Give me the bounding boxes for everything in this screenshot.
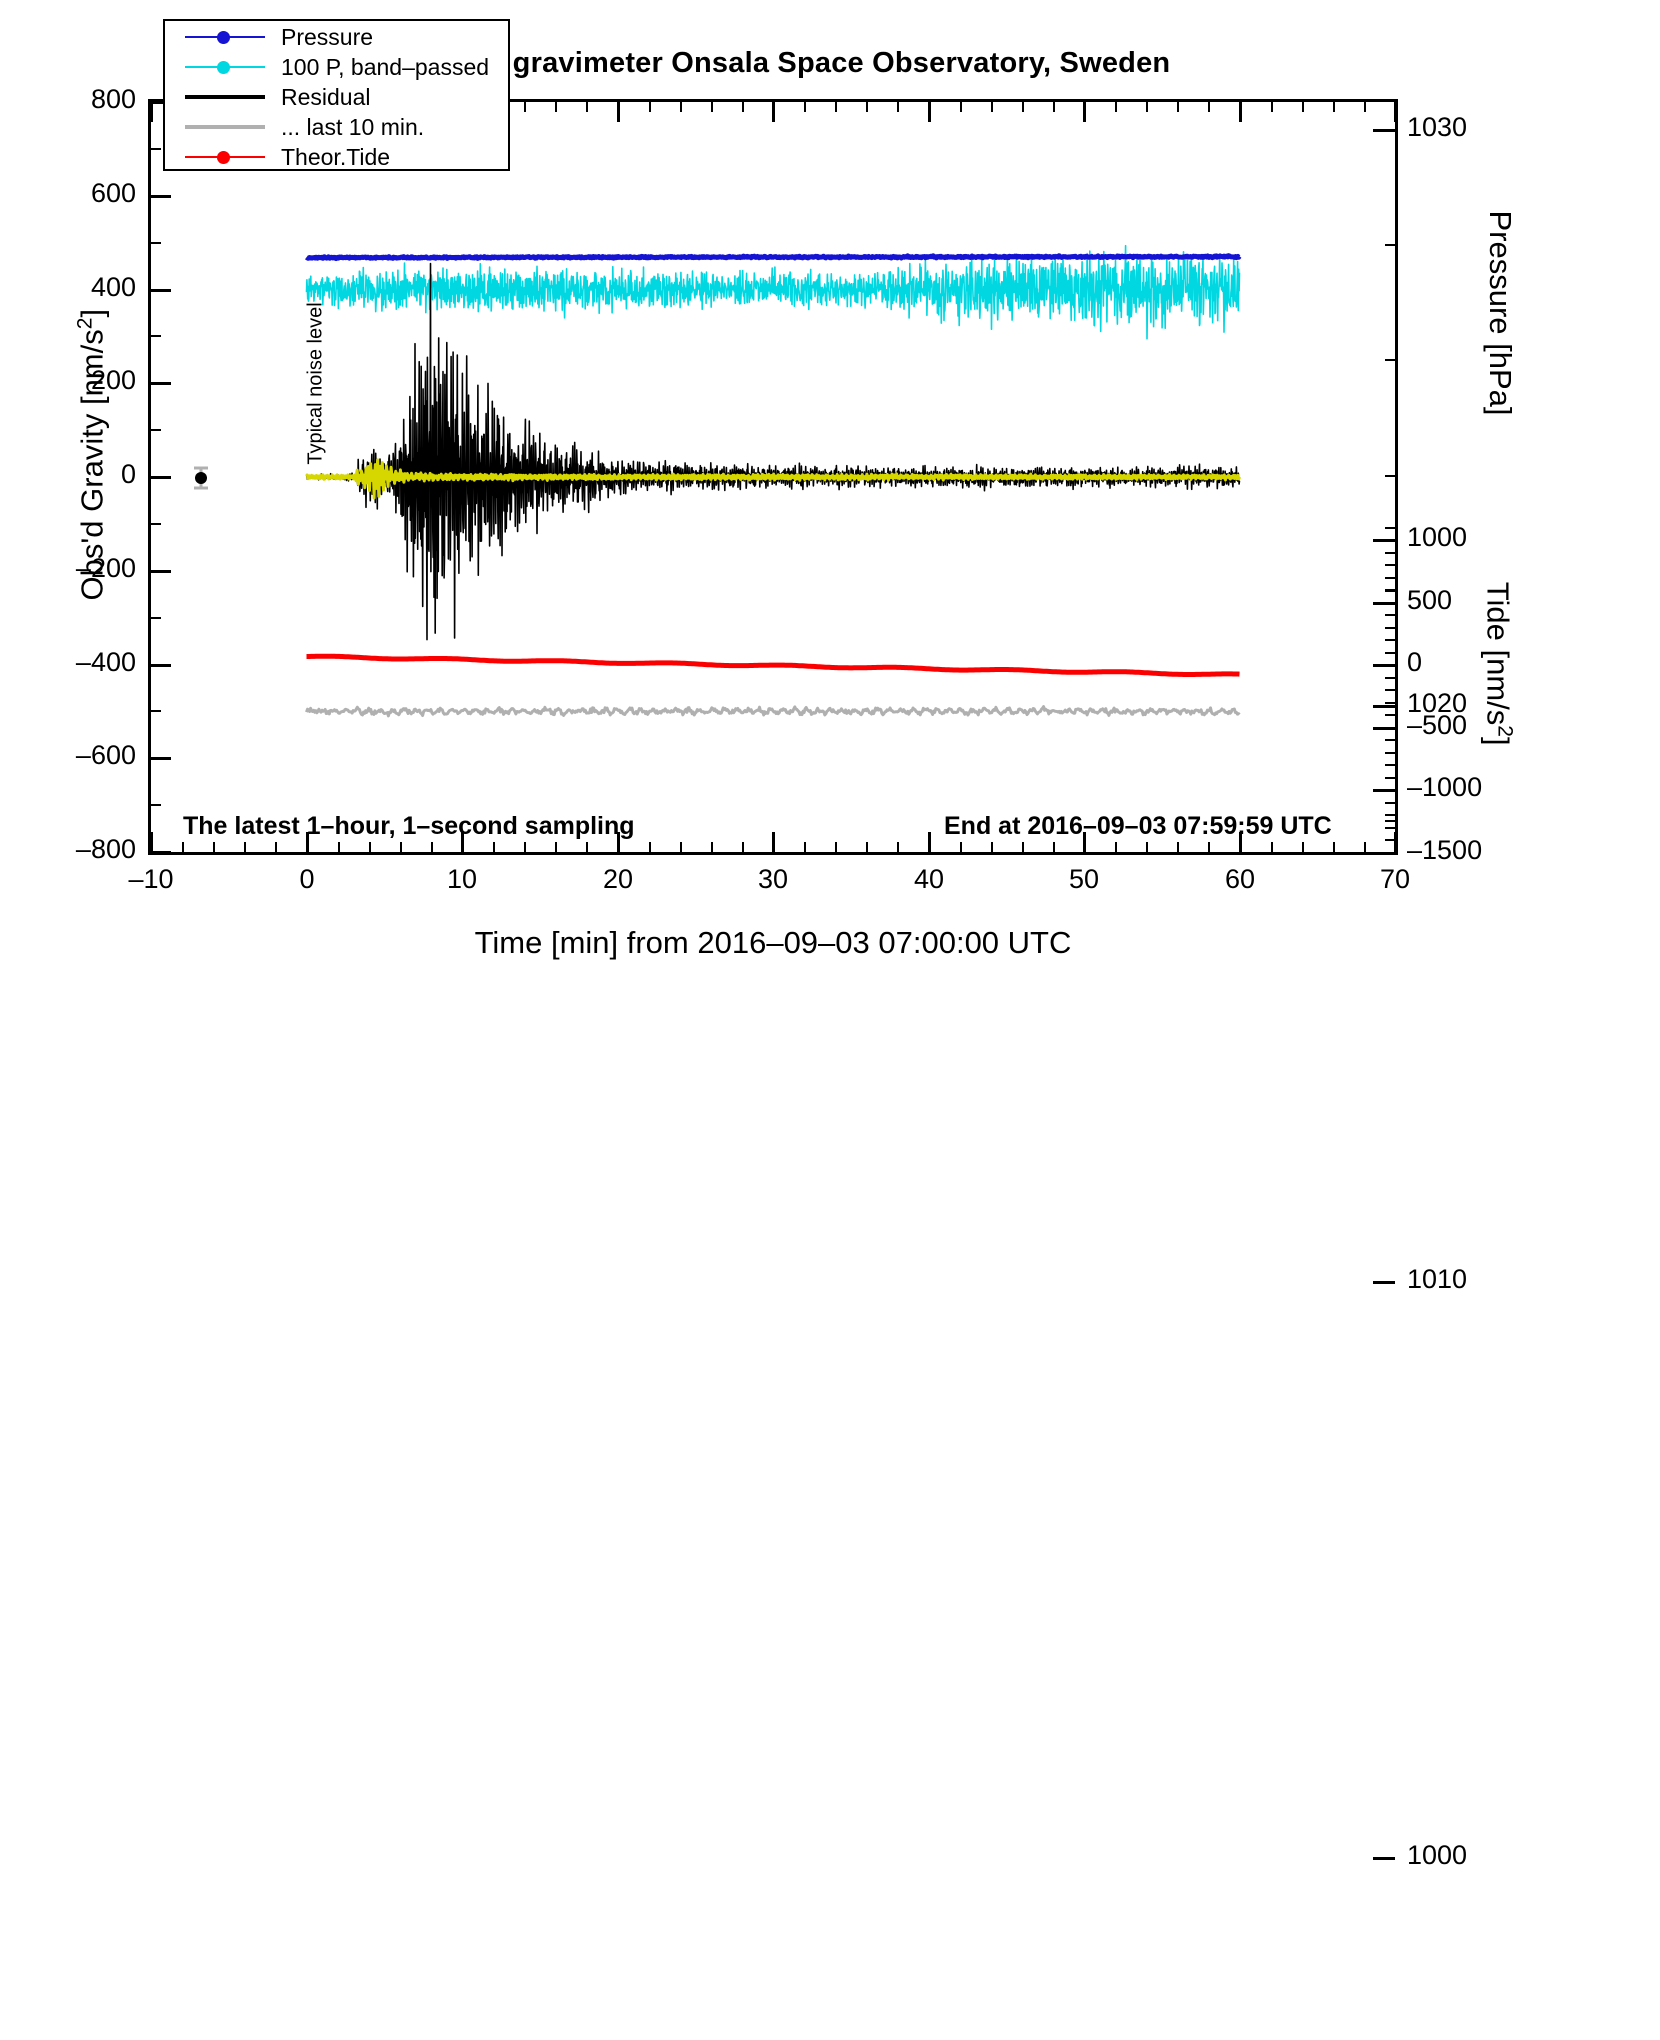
legend-marker-icon — [217, 151, 230, 164]
y-tide-major-tick — [1373, 727, 1395, 730]
x-minor-tick — [680, 842, 682, 852]
x-minor-tick — [1302, 842, 1304, 852]
y-left-major-tick — [151, 195, 171, 198]
trace-residual — [307, 264, 1240, 640]
y-left-minor-tick — [151, 617, 161, 619]
x-major-tick-top — [617, 102, 620, 122]
legend-swatch-2 — [179, 83, 271, 111]
x-minor-tick-top — [680, 102, 682, 112]
legend-line-icon — [185, 95, 265, 99]
x-major-tick-top — [1239, 102, 1242, 122]
x-minor-tick — [866, 842, 868, 852]
x-minor-tick — [991, 842, 993, 852]
x-minor-tick — [897, 842, 899, 852]
x-tick-label-5: 40 — [869, 864, 989, 895]
x-minor-tick — [1022, 842, 1024, 852]
x-minor-tick — [182, 842, 184, 852]
y-tide-minor-tick — [1385, 627, 1395, 629]
y-pressure-major-tick — [1373, 1857, 1395, 1860]
x-minor-tick-top — [1364, 102, 1366, 112]
annotation-end-time: End at 2016–09–03 07:59:59 UTC — [944, 812, 1332, 841]
y-tide-minor-tick — [1385, 714, 1395, 716]
x-minor-tick — [1333, 842, 1335, 852]
legend-label-2: Residual — [281, 86, 371, 109]
legend-label-0: Pressure — [281, 26, 373, 49]
x-minor-tick-top — [1208, 102, 1210, 112]
x-minor-tick-top — [960, 102, 962, 112]
x-minor-tick-top — [711, 102, 713, 112]
x-tick-label-0: –10 — [91, 864, 211, 895]
x-minor-tick — [1271, 842, 1273, 852]
y-tide-minor-tick — [1385, 839, 1395, 841]
x-minor-tick — [1115, 842, 1117, 852]
y-left-tick-label-8: 800 — [1, 84, 136, 115]
x-minor-tick-top — [866, 102, 868, 112]
trace-theoretical-tide — [307, 656, 1240, 674]
x-major-tick — [1394, 832, 1397, 852]
legend-label-1: 100 P, band–passed — [281, 56, 489, 79]
y-tide-minor-tick — [1385, 577, 1395, 579]
y-tide-tick-label-5: 1000 — [1407, 522, 1557, 553]
gravimeter-plot-page: SCG_054 gravimeter Onsala Space Observat… — [0, 0, 1660, 1020]
x-minor-tick-top — [804, 102, 806, 112]
x-major-tick-top — [1394, 102, 1397, 122]
y-tide-tick-label-3: 0 — [1407, 647, 1557, 678]
y-tide-minor-tick — [1385, 689, 1395, 691]
legend-item-3[interactable]: ... last 10 min. — [165, 113, 508, 141]
y-left-tick-label-2: –400 — [1, 647, 136, 678]
y-axis-pressure-title: Pressure [hPa] — [1482, 113, 1518, 513]
y-left-tick-label-0: –800 — [1, 834, 136, 865]
y-left-tick-label-4: 0 — [1, 459, 136, 490]
x-major-tick — [928, 832, 931, 852]
y-left-major-tick — [151, 476, 171, 479]
y-tide-major-tick — [1373, 789, 1395, 792]
x-minor-tick-top — [1053, 102, 1055, 112]
x-minor-tick-top — [897, 102, 899, 112]
trace-canvas — [151, 102, 1395, 852]
annotation-sampling: The latest 1–hour, 1–second sampling — [183, 812, 635, 841]
x-minor-tick-top — [555, 102, 557, 112]
y-tide-minor-tick — [1385, 677, 1395, 679]
y-left-major-tick — [151, 382, 171, 385]
y-tide-minor-tick — [1385, 802, 1395, 804]
y-pressure-tick-label-2: 1000 — [1407, 1840, 1537, 1871]
legend-item-2[interactable]: Residual — [165, 83, 508, 111]
x-minor-tick — [586, 842, 588, 852]
y-axis-left-title-tail: ] — [75, 309, 110, 318]
legend-marker-icon — [217, 61, 230, 74]
legend-line-icon — [185, 125, 265, 129]
y-tide-minor-tick — [1385, 764, 1395, 766]
plot-area — [148, 99, 1398, 855]
x-minor-tick — [1364, 842, 1366, 852]
x-minor-tick — [338, 842, 340, 852]
x-minor-tick — [804, 842, 806, 852]
legend-item-1[interactable]: 100 P, band–passed — [165, 53, 508, 81]
x-minor-tick-top — [1177, 102, 1179, 112]
noise-level-errorbar-icon — [189, 464, 213, 492]
x-minor-tick — [213, 842, 215, 852]
x-minor-tick-top — [1146, 102, 1148, 112]
x-minor-tick-top — [1333, 102, 1335, 112]
x-minor-tick — [1146, 842, 1148, 852]
y-left-minor-tick — [151, 710, 161, 712]
y-tide-major-tick — [1373, 664, 1395, 667]
x-tick-label-6: 50 — [1024, 864, 1144, 895]
y-tide-major-tick — [1373, 852, 1395, 855]
x-major-tick-top — [1083, 102, 1086, 122]
x-minor-tick — [431, 842, 433, 852]
x-major-tick-top — [928, 102, 931, 122]
x-minor-tick — [555, 842, 557, 852]
x-minor-tick — [275, 842, 277, 852]
x-minor-tick — [244, 842, 246, 852]
y-tide-minor-tick — [1385, 752, 1395, 754]
y-tide-minor-tick — [1385, 739, 1395, 741]
y-tide-minor-tick — [1385, 527, 1395, 529]
x-minor-tick-top — [649, 102, 651, 112]
x-minor-tick — [711, 842, 713, 852]
x-tick-label-1: 0 — [247, 864, 367, 895]
legend-swatch-3 — [179, 113, 271, 141]
legend-item-4[interactable]: Theor.Tide — [165, 143, 508, 171]
x-tick-label-2: 10 — [402, 864, 522, 895]
x-axis-title: Time [min] from 2016–09–03 07:00:00 UTC — [148, 925, 1398, 961]
x-major-tick — [772, 832, 775, 852]
x-minor-tick — [369, 842, 371, 852]
y-left-tick-label-1: –600 — [1, 740, 136, 771]
y-tide-minor-tick — [1385, 777, 1395, 779]
x-minor-tick-top — [586, 102, 588, 112]
x-tick-label-4: 30 — [713, 864, 833, 895]
x-minor-tick-top — [1302, 102, 1304, 112]
y-pressure-minor-tick — [1385, 359, 1395, 361]
y-tide-major-tick — [1373, 539, 1395, 542]
y-tide-minor-tick — [1385, 564, 1395, 566]
legend-item-0[interactable]: Pressure — [165, 23, 508, 51]
y-tide-tick-label-4: 500 — [1407, 585, 1557, 616]
y-tide-minor-tick — [1385, 814, 1395, 816]
y-left-minor-tick — [151, 523, 161, 525]
y-tide-major-tick — [1373, 602, 1395, 605]
legend-swatch-4 — [179, 143, 271, 171]
y-pressure-minor-tick — [1385, 820, 1395, 822]
y-left-tick-label-7: 600 — [1, 178, 136, 209]
x-minor-tick-top — [524, 102, 526, 112]
noise-level-label: Typical noise level — [305, 268, 328, 500]
y-left-major-tick — [151, 570, 171, 573]
y-left-major-tick — [151, 851, 171, 854]
legend-label-3: ... last 10 min. — [281, 116, 424, 139]
x-minor-tick — [524, 842, 526, 852]
x-minor-tick — [742, 842, 744, 852]
x-minor-tick-top — [1022, 102, 1024, 112]
x-minor-tick — [493, 842, 495, 852]
y-tide-minor-tick — [1385, 702, 1395, 704]
x-minor-tick — [835, 842, 837, 852]
y-tide-minor-tick — [1385, 639, 1395, 641]
legend-marker-icon — [217, 31, 230, 44]
x-minor-tick — [960, 842, 962, 852]
x-minor-tick — [400, 842, 402, 852]
x-tick-label-7: 60 — [1180, 864, 1300, 895]
y-left-major-tick — [151, 289, 171, 292]
x-major-tick-top — [772, 102, 775, 122]
y-pressure-minor-tick — [1385, 244, 1395, 246]
y-left-major-tick — [151, 757, 171, 760]
y-tide-tick-label-1: –1000 — [1407, 772, 1557, 803]
x-minor-tick — [649, 842, 651, 852]
x-tick-label-3: 20 — [558, 864, 678, 895]
y-left-minor-tick — [151, 429, 161, 431]
trace-pressure — [307, 256, 1240, 259]
x-major-tick-top — [150, 102, 153, 122]
y-left-minor-tick — [151, 804, 161, 806]
y-left-tick-label-6: 400 — [1, 272, 136, 303]
y-pressure-tick-label-3: 1010 — [1407, 1264, 1537, 1295]
x-minor-tick — [1177, 842, 1179, 852]
y-pressure-major-tick — [1373, 705, 1395, 708]
y-left-major-tick — [151, 664, 171, 667]
y-left-tick-label-5: 200 — [1, 365, 136, 396]
legend-swatch-0 — [179, 23, 271, 51]
y-pressure-major-tick — [1373, 1281, 1395, 1284]
y-tide-tick-label-2: –500 — [1407, 710, 1557, 741]
y-tide-minor-tick — [1385, 652, 1395, 654]
y-tide-minor-tick — [1385, 614, 1395, 616]
x-minor-tick-top — [991, 102, 993, 112]
y-pressure-tick-label-5: 1030 — [1407, 112, 1537, 143]
x-minor-tick — [1053, 842, 1055, 852]
trace-last-10-min — [307, 707, 1240, 716]
x-major-tick — [150, 832, 153, 852]
x-tick-label-8: 70 — [1335, 864, 1455, 895]
y-pressure-minor-tick — [1385, 475, 1395, 477]
x-minor-tick-top — [1271, 102, 1273, 112]
y-axis-left-title-sup: 2 — [73, 318, 96, 330]
legend-swatch-1 — [179, 53, 271, 81]
x-minor-tick-top — [835, 102, 837, 112]
y-tide-minor-tick — [1385, 589, 1395, 591]
y-tide-tick-label-0: –1500 — [1407, 835, 1557, 866]
y-left-minor-tick — [151, 242, 161, 244]
x-minor-tick-top — [742, 102, 744, 112]
legend-label-4: Theor.Tide — [281, 146, 390, 169]
y-tide-minor-tick — [1385, 827, 1395, 829]
y-left-minor-tick — [151, 335, 161, 337]
legend: Pressure100 P, band–passedResidual... la… — [163, 19, 510, 171]
y-tide-minor-tick — [1385, 552, 1395, 554]
y-left-minor-tick — [151, 148, 161, 150]
y-left-tick-label-3: –200 — [1, 553, 136, 584]
x-minor-tick-top — [1115, 102, 1117, 112]
y-pressure-major-tick — [1373, 129, 1395, 132]
x-minor-tick — [1208, 842, 1210, 852]
